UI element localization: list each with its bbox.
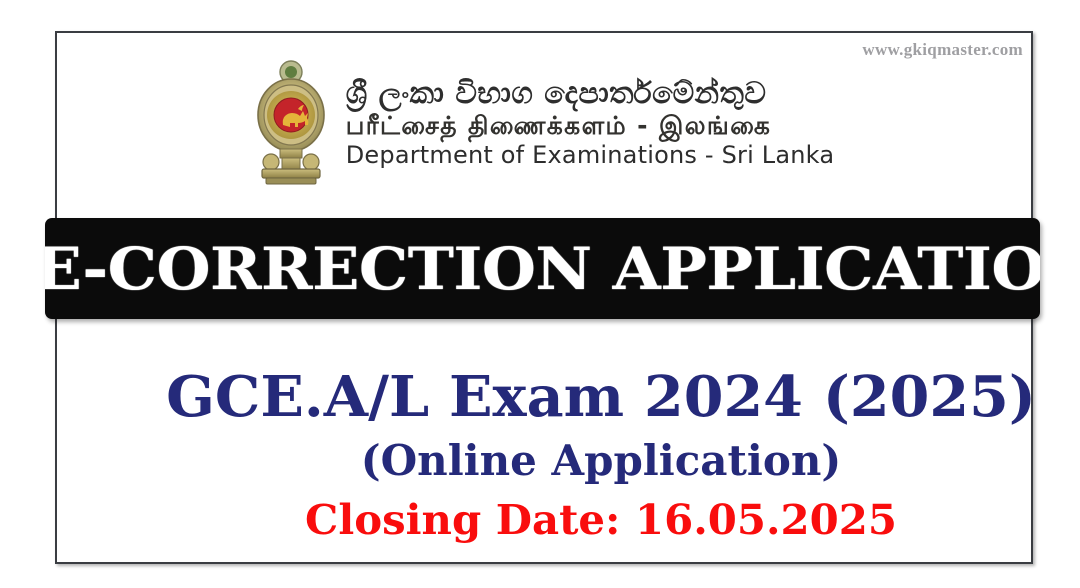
site-watermark: www.gkiqmaster.com [862, 40, 1023, 60]
sri-lanka-government-emblem-icon [254, 59, 328, 187]
department-name-tamil: பரீட்சைத் திணைக்களம் - இலங்கை [346, 113, 835, 138]
re-correction-banner: RE-CORRECTION APPLICATION [45, 218, 1040, 319]
application-mode-subtitle: (Online Application) [114, 440, 1080, 482]
exam-title: GCE.A/L Exam 2024 (2025) [104, 369, 1080, 426]
headline-block: GCE.A/L Exam 2024 (2025) (Online Applica… [114, 369, 1080, 541]
department-name-sinhala: ශ්‍රී ලංකා විභාග දෙපාර්තමේන්තුව [346, 79, 835, 109]
closing-date-text: Closing Date: 16.05.2025 [104, 500, 1080, 541]
letterhead: ශ්‍රී ලංකා විභාග දෙපාර්තමේන්තුව பரீட்சைத… [57, 59, 1031, 187]
department-name-english: Department of Examinations - Sri Lanka [346, 143, 835, 167]
department-name-block: ශ්‍රී ලංකා විභාග දෙපාර්තමේන්තුව பரீட்சைத… [346, 79, 835, 167]
poster-root: www.gkiqmaster.com [0, 0, 1080, 588]
banner-title: RE-CORRECTION APPLICATION [45, 235, 1040, 303]
